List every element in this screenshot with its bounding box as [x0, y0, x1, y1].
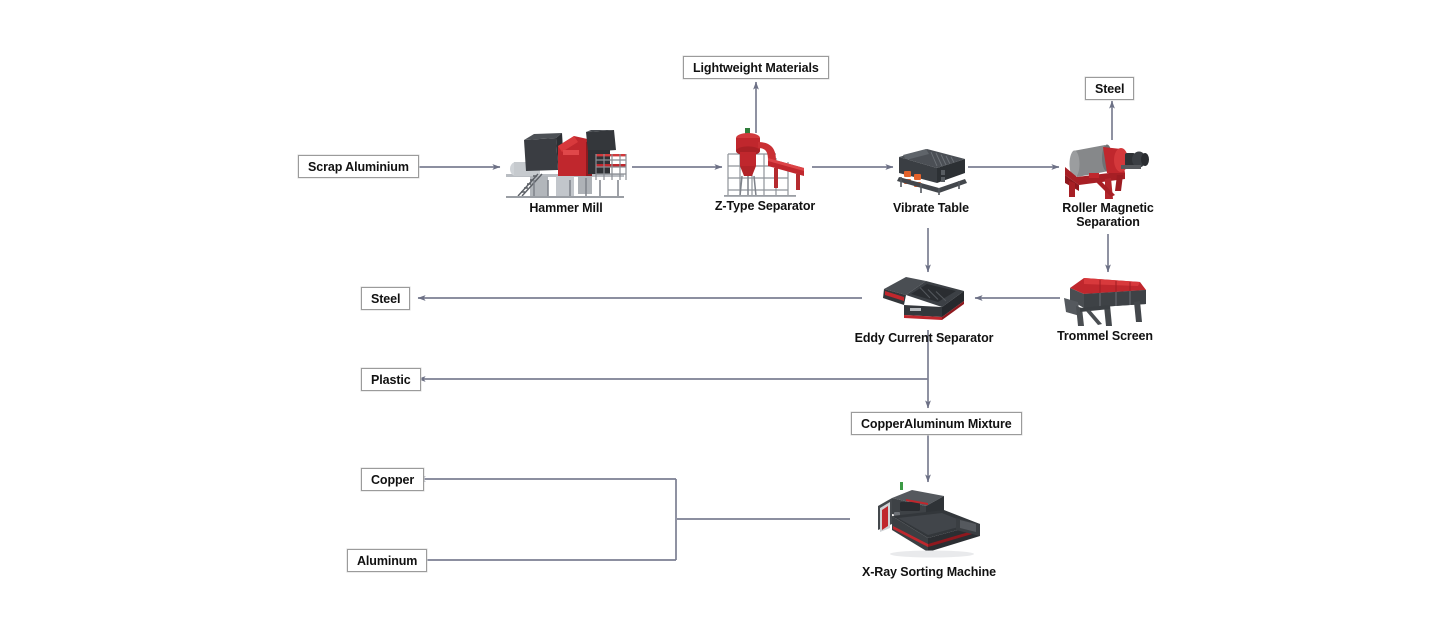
node-scrap-aluminium[interactable]: Scrap Aluminium [298, 155, 419, 178]
node-xray-sorting-machine-label: X-Ray Sorting Machine [819, 566, 1039, 580]
node-xray-sorting-machine[interactable]: X-Ray Sorting Machine [870, 482, 988, 560]
eddy-current-separator-icon [880, 273, 968, 328]
node-steel-mid-label: Steel [371, 292, 400, 306]
process-flow-diagram: Scrap Aluminium Lightweight Materials St… [0, 0, 1440, 620]
node-steel-top[interactable]: Steel [1085, 77, 1134, 100]
node-roller-magnetic-separation[interactable]: Roller Magnetic Separation [1059, 139, 1157, 201]
hammer-mill-icon [500, 130, 632, 200]
node-z-type-separator[interactable]: Z-Type Separator [718, 128, 812, 198]
trommel-screen-icon [1060, 272, 1150, 328]
node-roller-magnetic-separation-label: Roller Magnetic Separation [998, 202, 1218, 229]
node-hammer-mill-label: Hammer Mill [456, 202, 676, 216]
node-hammer-mill[interactable]: Hammer Mill [500, 130, 632, 200]
node-eddy-current-separator[interactable]: Eddy Current Separator [880, 273, 968, 328]
xray-sorting-machine-icon [870, 482, 988, 560]
node-steel-top-label: Steel [1095, 82, 1124, 96]
roller-magnetic-label-line2: Separation [998, 216, 1218, 230]
node-trommel-screen-label: Trommel Screen [995, 330, 1215, 344]
node-lightweight-materials[interactable]: Lightweight Materials [683, 56, 829, 79]
roller-magnetic-label-line1: Roller Magnetic [998, 202, 1218, 216]
node-scrap-aluminium-label: Scrap Aluminium [308, 160, 409, 174]
node-copper-label: Copper [371, 473, 414, 487]
node-copper-aluminum-mixture-label: CopperAluminum Mixture [861, 417, 1012, 431]
z-type-separator-icon [718, 128, 812, 198]
node-aluminum-label: Aluminum [357, 554, 417, 568]
vibrate-table-icon [893, 143, 968, 195]
node-copper-aluminum-mixture[interactable]: CopperAluminum Mixture [851, 412, 1022, 435]
node-vibrate-table[interactable]: Vibrate Table [893, 143, 968, 195]
node-steel-mid[interactable]: Steel [361, 287, 410, 310]
node-copper[interactable]: Copper [361, 468, 424, 491]
node-trommel-screen[interactable]: Trommel Screen [1060, 272, 1150, 328]
node-plastic-label: Plastic [371, 373, 411, 387]
node-aluminum[interactable]: Aluminum [347, 549, 427, 572]
node-plastic[interactable]: Plastic [361, 368, 421, 391]
edge-layer [0, 0, 1440, 620]
roller-magnetic-separation-icon [1059, 139, 1157, 201]
node-lightweight-materials-label: Lightweight Materials [693, 61, 819, 75]
